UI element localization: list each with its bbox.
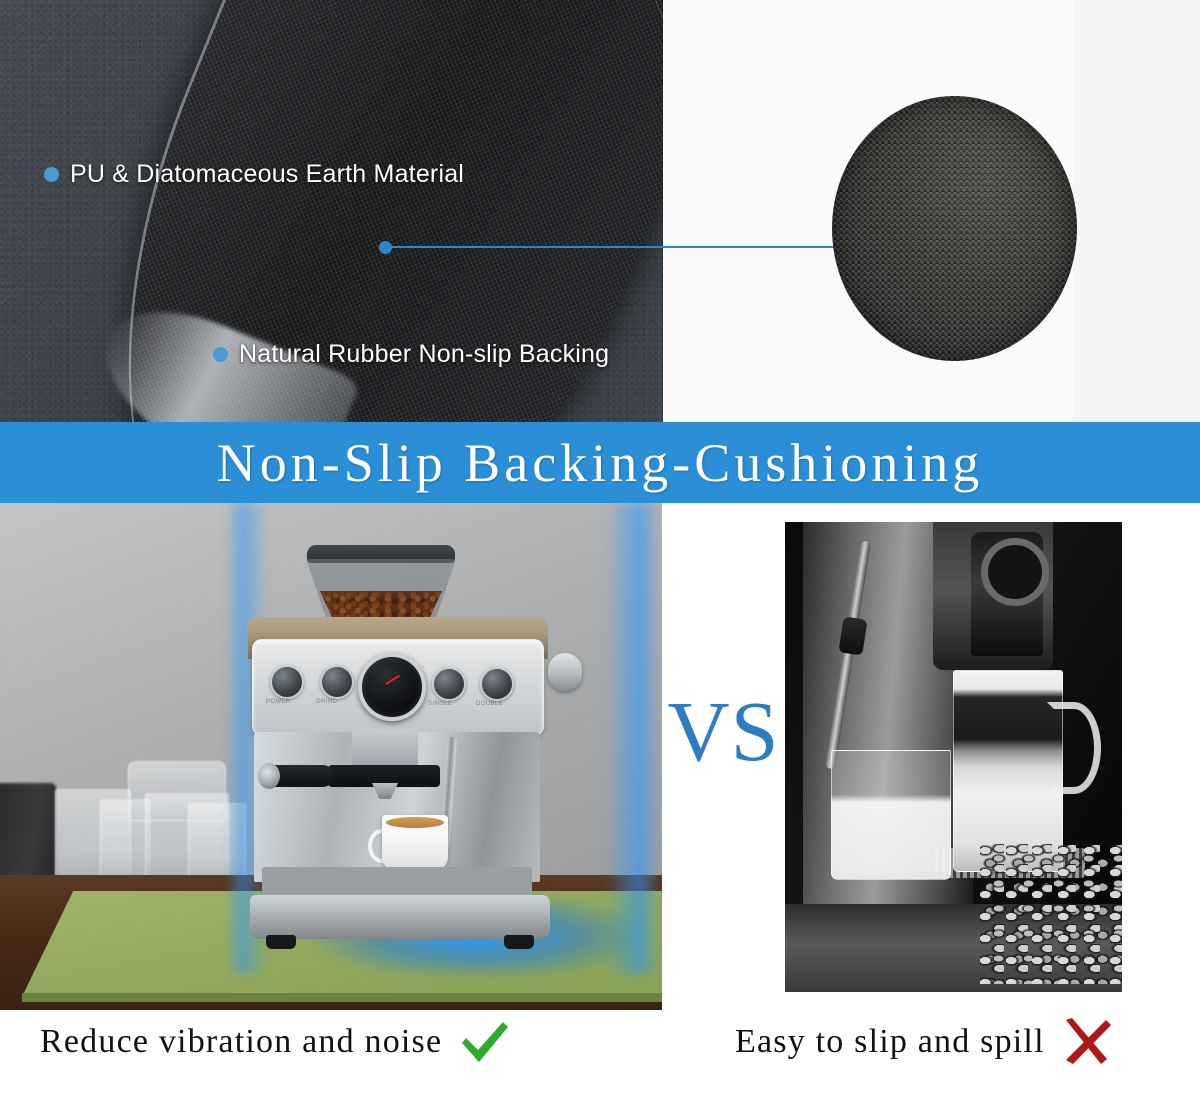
material-detail-panel: PU & Diatomaceous Earth Material Natural… <box>0 0 1200 422</box>
cross-mark-icon <box>1061 1018 1111 1066</box>
comparison-section: POWER GRIND SINGLE DOUBLE <box>0 503 1200 1010</box>
control-button-power-label: POWER <box>266 699 291 705</box>
portafilter-handle-cap <box>258 763 280 789</box>
rubber-backing-closeup-inset <box>832 96 1077 361</box>
headline-banner: Non-Slip Backing-Cushioning <box>0 422 1200 503</box>
control-button-single <box>432 667 466 701</box>
vs-label: VS <box>662 688 785 774</box>
control-button-double <box>480 667 514 701</box>
callout-pu-material: PU & Diatomaceous Earth Material <box>44 160 464 189</box>
control-button-grind <box>320 665 354 699</box>
caption-row: Reduce vibration and noise Easy to slip … <box>0 1010 1200 1111</box>
headline-title: Non-Slip Backing-Cushioning <box>217 436 984 490</box>
check-mark-icon <box>458 1018 510 1066</box>
green-mat-edge <box>22 993 662 1002</box>
bullet-dot-icon <box>213 347 228 362</box>
callout-pu-material-label: PU & Diatomaceous Earth Material <box>70 160 464 189</box>
control-button-power <box>270 665 304 699</box>
espresso-machine: POWER GRIND SINGLE DOUBLE <box>232 547 642 967</box>
control-button-double-label: DOUBLE <box>476 701 503 707</box>
machine-foot <box>266 935 296 949</box>
coffee-machine-spill-photo <box>785 522 1122 992</box>
bw-coffee-beans <box>980 844 1122 984</box>
espresso-crema <box>386 817 444 828</box>
bw-milk-glass <box>831 750 951 880</box>
machine-foot <box>504 935 534 949</box>
bw-latte-glass-handle <box>1047 702 1101 794</box>
espresso-machine-on-mat-photo: POWER GRIND SINGLE DOUBLE <box>0 503 662 1010</box>
product-infographic: PU & Diatomaceous Earth Material Natural… <box>0 0 1200 1111</box>
bw-dispenser-ring <box>981 538 1049 606</box>
caption-reduce-vibration-text: Reduce vibration and noise <box>40 1023 442 1061</box>
steam-knob <box>548 653 582 691</box>
caption-easy-to-slip-text: Easy to slip and spill <box>735 1023 1045 1061</box>
control-button-single-label: SINGLE <box>428 701 452 707</box>
leader-line <box>390 246 836 248</box>
pressure-gauge <box>358 653 426 721</box>
callout-rubber-backing-label: Natural Rubber Non-slip Backing <box>239 340 609 369</box>
caption-easy-to-slip: Easy to slip and spill <box>735 1018 1111 1066</box>
caption-reduce-vibration: Reduce vibration and noise <box>40 1018 510 1066</box>
callout-rubber-backing: Natural Rubber Non-slip Backing <box>213 340 609 369</box>
bullet-dot-icon <box>44 167 59 182</box>
inset-background-strip <box>1073 0 1200 422</box>
machine-base <box>250 895 550 939</box>
control-button-grind-label: GRIND <box>316 699 337 705</box>
